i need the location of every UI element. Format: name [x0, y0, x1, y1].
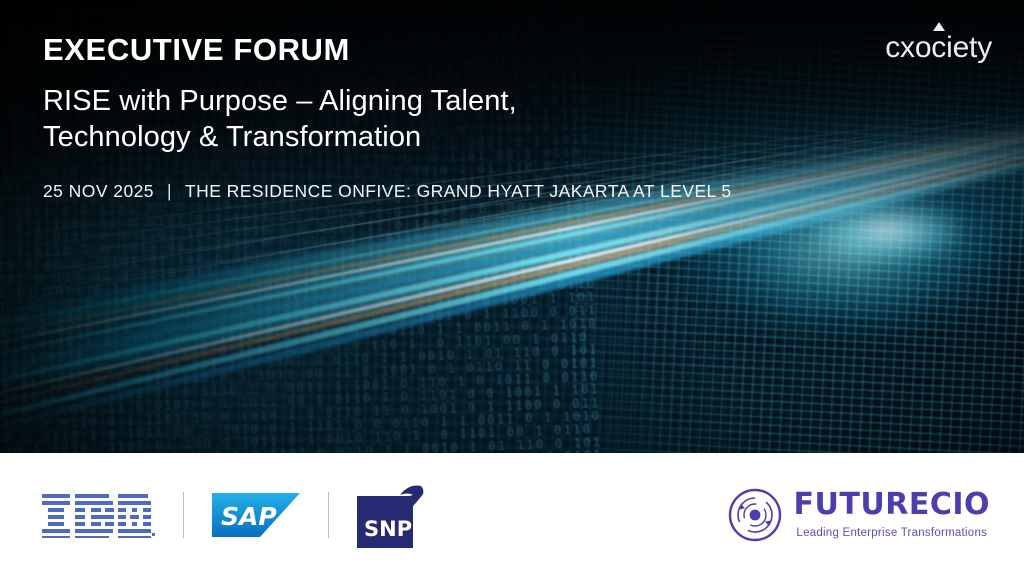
hero-text-block: EXECUTIVE FORUM RISE with Purpose – Alig… — [43, 34, 903, 202]
event-date: 25 NOV 2025 — [43, 181, 154, 201]
sponsor-logo-sap[interactable]: SAP — [212, 493, 300, 537]
headline-line-1: RISE with Purpose – Aligning Talent, — [43, 83, 903, 120]
sponsor-logo-snp[interactable]: SNP — [357, 484, 421, 546]
cxociety-label: cxociety — [885, 31, 992, 64]
futurecio-text: FUTURECIO Leading Enterprise Transformat… — [794, 490, 990, 539]
caret-up-icon — [933, 22, 945, 31]
circular-orbit-icon — [728, 488, 782, 542]
event-separator: | — [154, 181, 185, 202]
svg-text:SAP: SAP — [221, 502, 277, 531]
sap-icon: SAP — [212, 493, 300, 537]
headline: RISE with Purpose – Aligning Talent, Tec… — [43, 83, 903, 157]
cxociety-wordmark: cxociety — [885, 33, 992, 63]
sponsor-logo-ibm[interactable] — [42, 492, 155, 538]
sponsor-bar: SAP SNP — [0, 453, 1024, 576]
ibm-icon — [42, 492, 155, 538]
event-venue: THE RESIDENCE ONFIVE: GRAND HYATT JAKART… — [185, 181, 732, 201]
snp-icon: SNP — [357, 484, 425, 548]
hero-background-image: 10 0110 1 0010 1101 01 100 0 1011 0 1 00… — [0, 0, 1024, 453]
sponsor-logo-group: SAP SNP — [42, 484, 421, 546]
headline-line-2: Technology & Transformation — [43, 119, 903, 156]
cxociety-logo[interactable]: cxociety — [885, 33, 992, 63]
logo-divider — [183, 492, 184, 538]
event-banner: 10 0110 1 0010 1101 01 100 0 1011 0 1 00… — [0, 0, 1024, 576]
futurecio-tagline: Leading Enterprise Transformations — [794, 527, 990, 539]
event-details: 25 NOV 2025|THE RESIDENCE ONFIVE: GRAND … — [43, 181, 903, 202]
futurecio-wordmark: FUTURECIO — [794, 490, 990, 520]
svg-text:SNP: SNP — [364, 517, 412, 541]
page-title: EXECUTIVE FORUM — [43, 34, 903, 67]
media-partner-futurecio[interactable]: FUTURECIO Leading Enterprise Transformat… — [728, 488, 990, 542]
logo-divider — [328, 492, 329, 538]
